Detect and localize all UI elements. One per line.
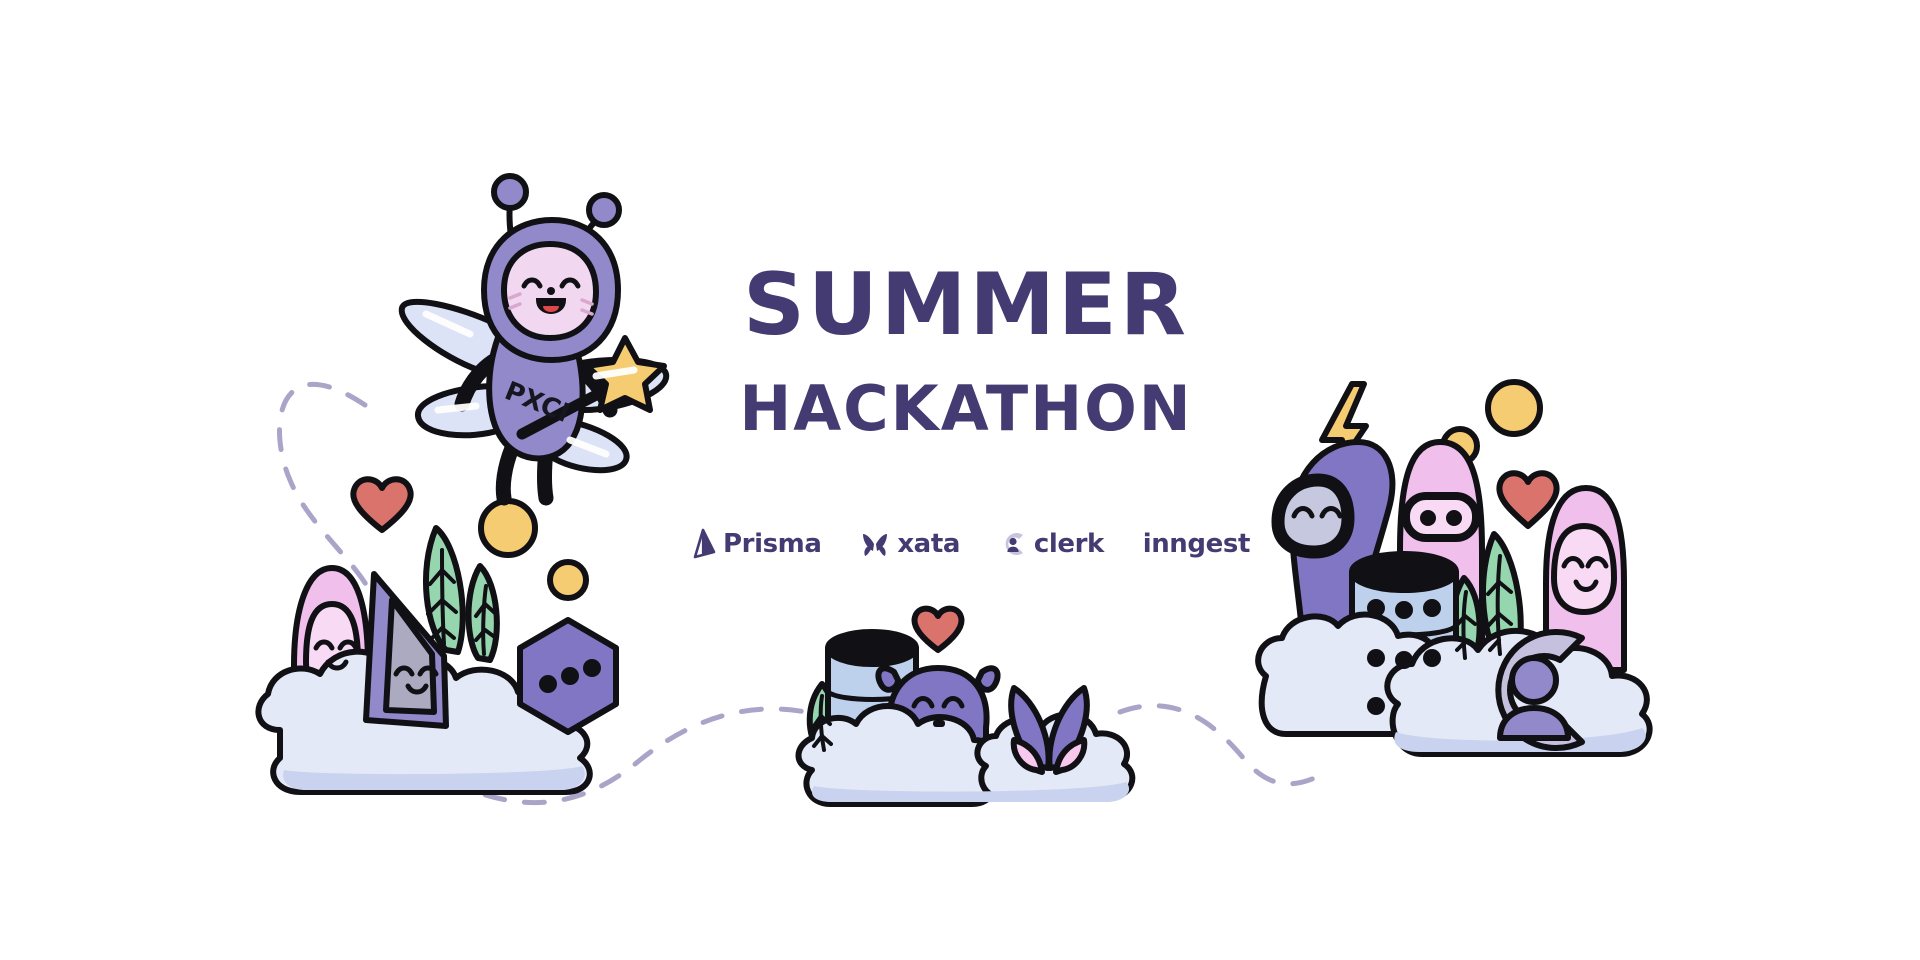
hackathon-banner: PXCI SUMMER HACKATHON Prisma: [0, 0, 1920, 960]
middle-cloud-scene: [790, 600, 1150, 830]
antenna-left-ball: [494, 176, 526, 208]
heart-right: [1499, 473, 1556, 526]
yellow-circle-small: [550, 562, 586, 598]
bear-ear-left: [878, 668, 898, 690]
sponsor-logo-row: Prisma xata clerk inngest: [690, 528, 1250, 560]
sponsor-clerk-label: clerk: [1034, 531, 1104, 557]
sponsor-xata[interactable]: xata: [860, 529, 960, 559]
left-cloud-scene: [250, 470, 670, 800]
xata-butterfly-icon: [860, 529, 890, 559]
pink-visor-window: [1406, 496, 1476, 538]
sponsor-clerk[interactable]: clerk: [999, 530, 1104, 558]
heart-middle: [915, 609, 962, 650]
database-cylinder-top: [828, 632, 916, 664]
antenna-right-ball: [589, 195, 619, 225]
pink-smiling-face: [1554, 526, 1614, 612]
sponsor-xata-label: xata: [897, 531, 960, 557]
mascot-nose: [547, 287, 555, 295]
page-title: SUMMER HACKATHON: [690, 262, 1242, 440]
bear-nose: [933, 720, 945, 727]
yellow-circle-right-big: [1488, 382, 1540, 434]
clerk-logo-sculpture-head: [1512, 658, 1556, 702]
prisma-prism-icon: [690, 528, 716, 560]
clerk-logo-sculpture-body: [1500, 708, 1568, 738]
title-line-summer: SUMMER: [690, 262, 1242, 348]
sponsor-inngest-label: inngest: [1143, 531, 1250, 557]
yellow-circle-big: [481, 501, 535, 555]
right-cloud-scene: [1250, 370, 1670, 790]
sponsor-inngest[interactable]: inngest: [1143, 531, 1250, 557]
leg-left: [503, 448, 512, 498]
fairy-mascot: PXCI: [400, 148, 690, 508]
clerk-avatar-icon: [999, 530, 1027, 558]
database-cylinder-right-top: [1352, 554, 1456, 590]
yellow-circles-left: [481, 501, 586, 598]
sponsor-prisma-label: Prisma: [723, 531, 822, 557]
title-line-hackathon: HACKATHON: [690, 378, 1242, 440]
sponsor-prisma[interactable]: Prisma: [690, 528, 822, 560]
